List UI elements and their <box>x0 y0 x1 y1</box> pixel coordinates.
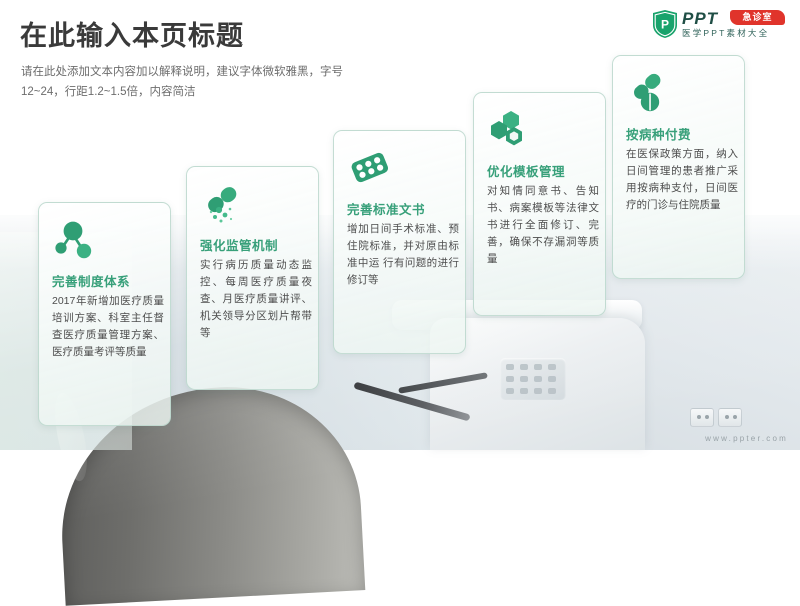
card-body: 对知情同意书、告知书、病案模板等法律文书进行全面修订、完善，确保不存漏洞等质量 <box>487 183 599 268</box>
feature-card[interactable]: 按病种付费 在医保政策方面，纳入日间管理的患者推广采用按病种支付，日间医疗的门诊… <box>612 55 745 279</box>
page-subtitle: 请在此处添加文本内容加以解释说明，建议字体微软雅黑，字号12~24，行距1.2~… <box>21 62 351 102</box>
card-body: 在医保政策方面，纳入日间管理的患者推广采用按病种支付，日间医疗的门诊与住院质量 <box>626 146 738 214</box>
logo-tagline: 医学PPT素材大全 <box>682 27 769 39</box>
feature-card[interactable]: 完善制度体系 2017年新增加医疗质量培训方案、科室主任督查医疗质量管理方案、医… <box>38 202 171 426</box>
card-title: 完善制度体系 <box>52 271 130 290</box>
card-body: 2017年新增加医疗质量培训方案、科室主任督查医疗质量管理方案、医疗质量考评等质… <box>52 293 164 361</box>
page-title: 在此输入本页标题 <box>20 14 244 53</box>
card-title: 按病种付费 <box>626 124 691 143</box>
logo-badge: 急诊室 <box>730 10 785 25</box>
capsule-granules-icon <box>200 181 246 227</box>
molecule-icon <box>52 217 98 263</box>
hexagon-cluster-icon <box>487 107 533 153</box>
card-title: 完善标准文书 <box>347 199 425 218</box>
blister-pack-icon <box>347 145 393 191</box>
card-body: 增加日间手术标准、预住院标准，并对原由标准中运 行有问题的进行修订等 <box>347 221 459 289</box>
svg-text:P: P <box>661 17 669 31</box>
card-body: 实行病历质量动态监控、每周医疗质量夜查、月医疗质量讲评、机关领导分区划片帮带等 <box>200 257 312 342</box>
feature-card[interactable]: 强化监管机制 实行病历质量动态监控、每周医疗质量夜查、月医疗质量讲评、机关领导分… <box>186 166 319 390</box>
feature-card[interactable]: 完善标准文书 增加日间手术标准、预住院标准，并对原由标准中运 行有问题的进行修订… <box>333 130 466 354</box>
card-title: 优化模板管理 <box>487 161 565 180</box>
watermark: www.ppter.com <box>705 434 788 443</box>
feature-card[interactable]: 优化模板管理 对知情同意书、告知书、病案模板等法律文书进行全面修订、完善，确保不… <box>473 92 606 316</box>
shield-icon: P <box>652 9 678 39</box>
capsule-tablet-icon <box>626 70 672 116</box>
logo-wordmark: PPT <box>682 9 718 29</box>
card-title: 强化监管机制 <box>200 235 278 254</box>
brand-logo[interactable]: P PPT 急诊室 医学PPT素材大全 <box>652 8 786 44</box>
